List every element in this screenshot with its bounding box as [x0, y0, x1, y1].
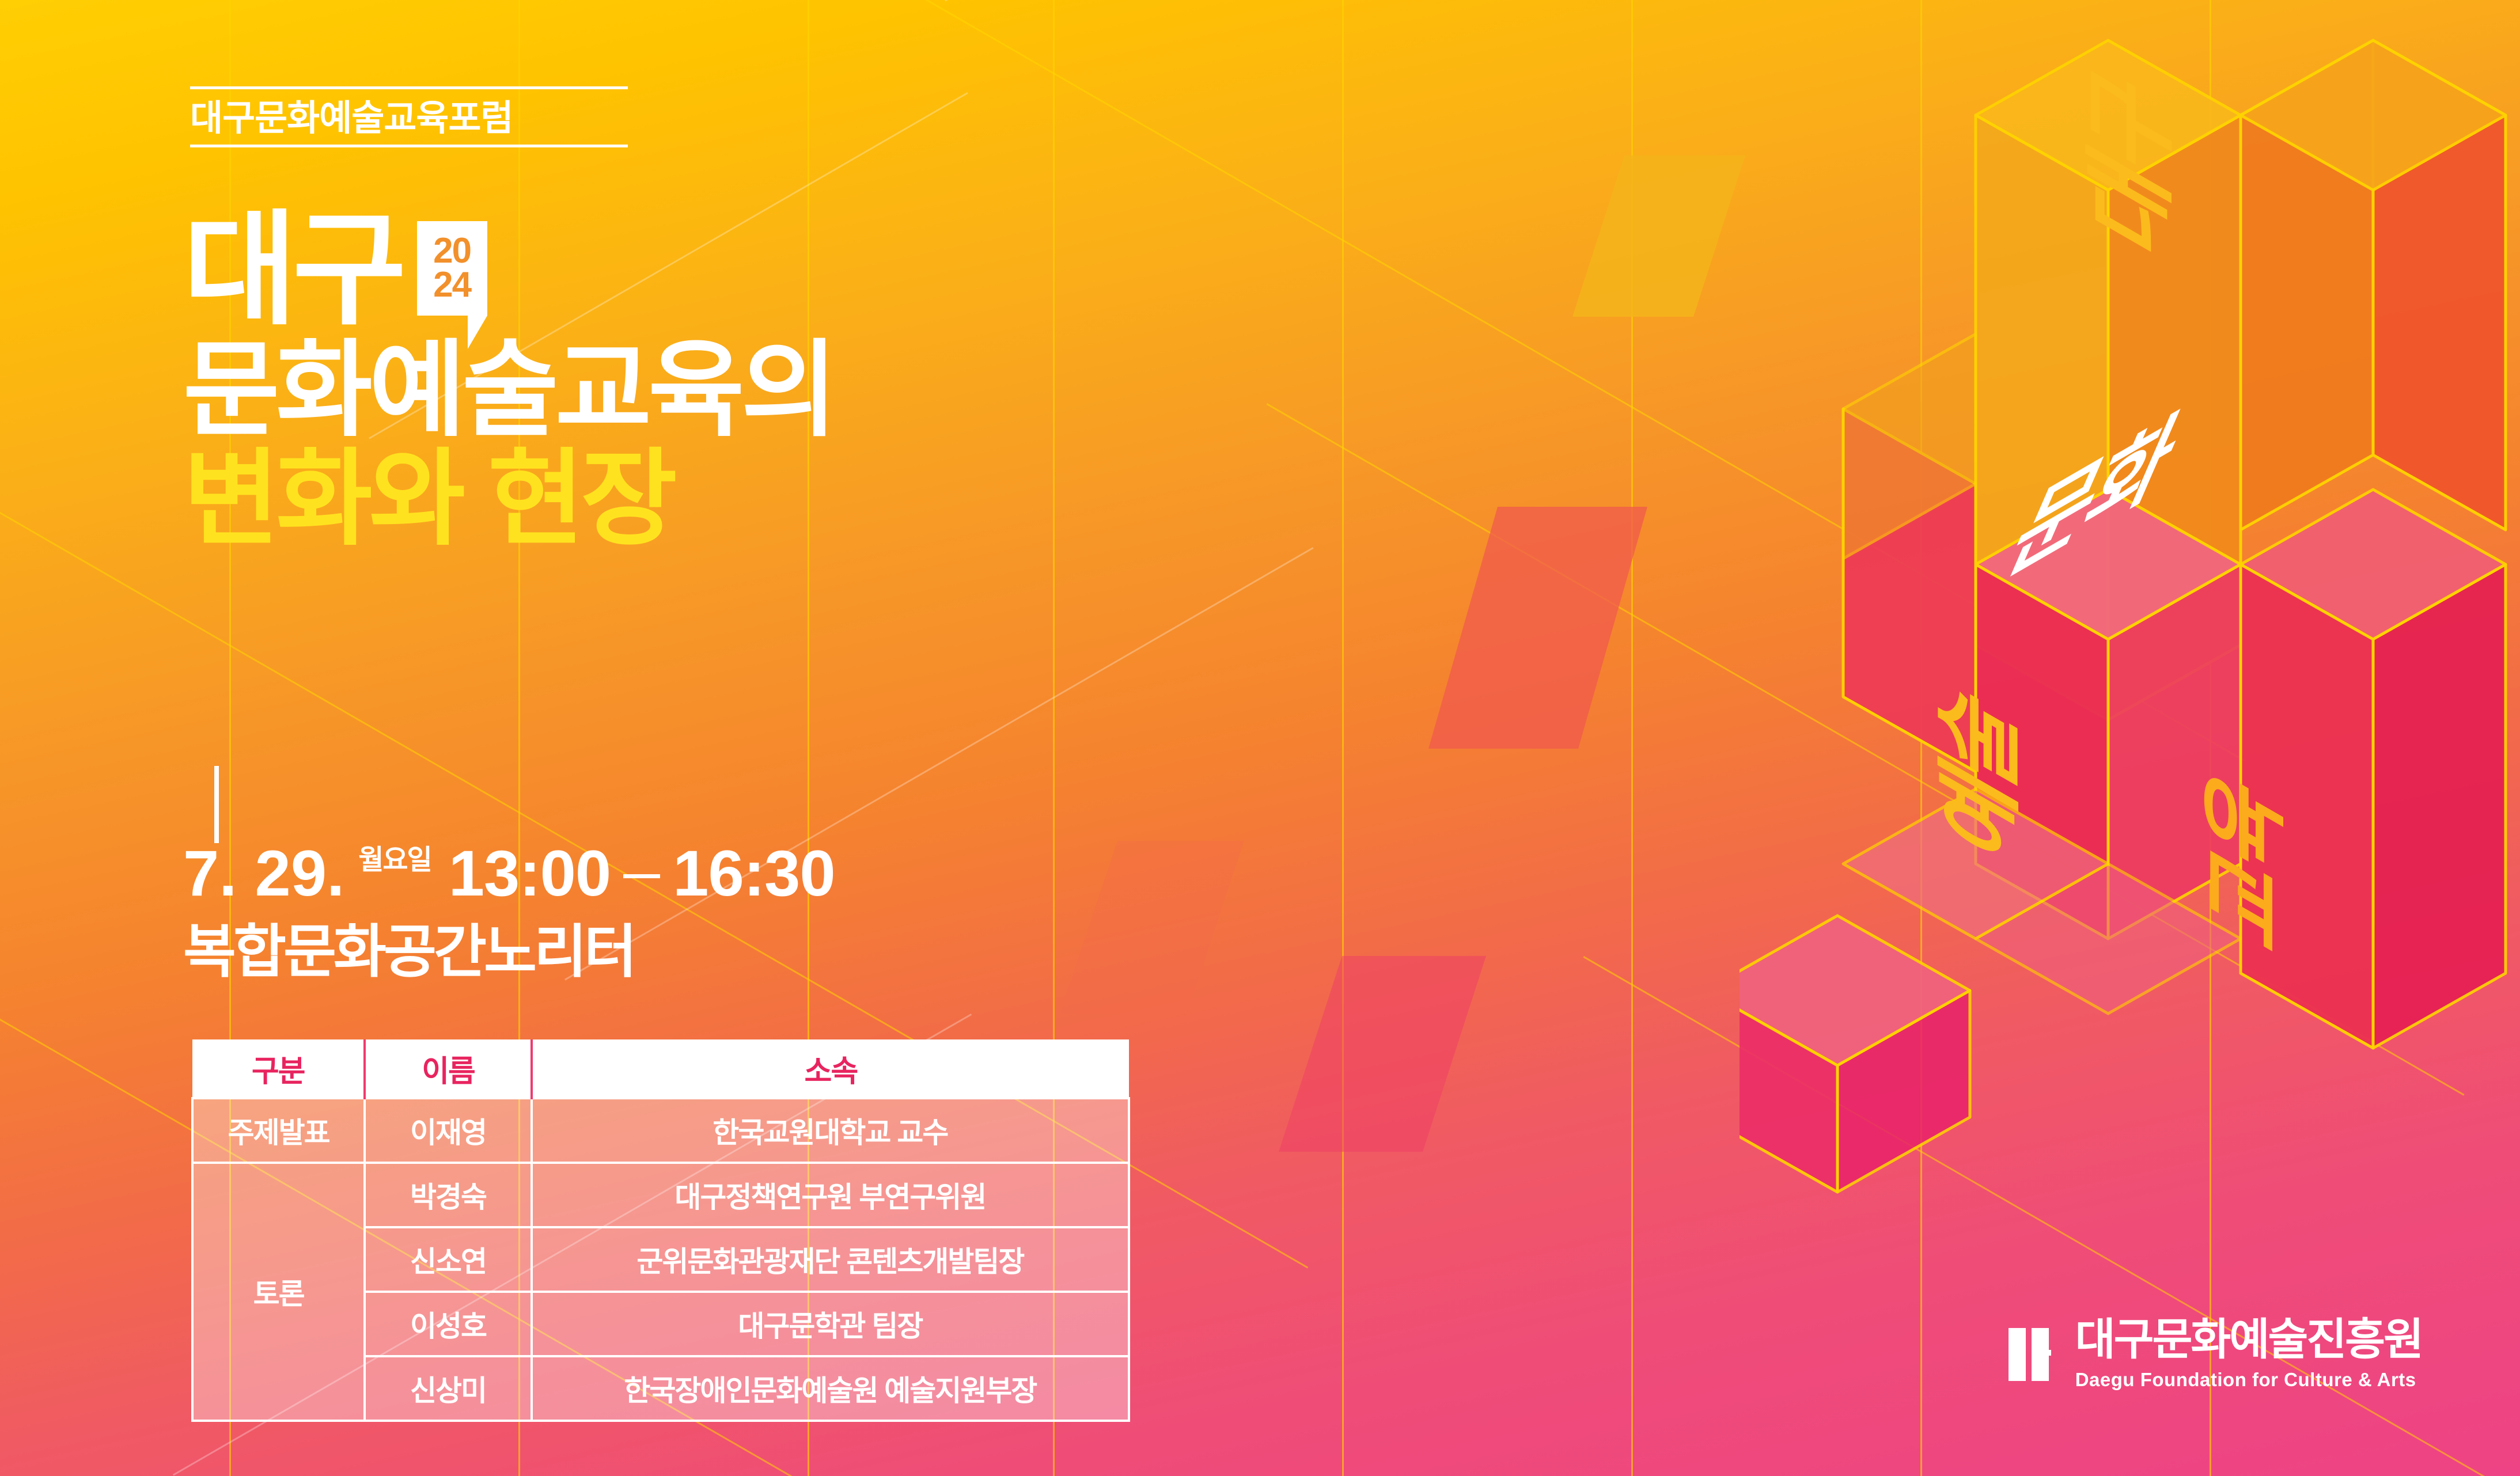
logo-name-kr: 대구문화예술진흥원: [2075, 1318, 2422, 1362]
kicker-rule-bottom: [190, 145, 628, 147]
year-top: 20: [433, 234, 471, 268]
event-datetime: 7. 29. 월요일 13:00 16:30: [183, 836, 1105, 910]
cell-affiliation: 한국장애인문화예술원 예술지원부장: [532, 1356, 1129, 1421]
kicker-block: 대구문화예술교육포럼: [190, 86, 628, 147]
kicker-label: 대구문화예술교육포럼: [190, 89, 628, 145]
event-venue: 복합문화공간노리터: [183, 923, 1105, 981]
grid-vline: [1342, 0, 1344, 1476]
cell-affiliation: 한국교원대학교 교수: [532, 1098, 1129, 1163]
cell-category: 토론: [192, 1163, 365, 1421]
isometric-block-cluster: 대구 예술 교육 문화: [1740, 0, 2520, 1204]
foundation-logomark-icon: [2005, 1322, 2060, 1387]
title-line-1-row: 대구 20 24: [183, 213, 1047, 327]
cell-affiliation: 군위문화관광재단 콘텐츠개발팀장: [532, 1227, 1129, 1292]
table-row: 주제발표 이재영 한국교원대학교 교수: [192, 1098, 1129, 1163]
year-bottom: 24: [433, 268, 471, 302]
logo-name-en: Daegu Foundation for Culture & Arts: [2075, 1369, 2422, 1391]
title-line-2: 문화예술교육의: [183, 342, 1047, 438]
cell-name: 신소연: [365, 1227, 531, 1292]
table-header-row: 구분 이름 소속: [192, 1039, 1129, 1098]
page-title: 대구 20 24 문화예술교육의 변화와 현장: [183, 213, 1047, 548]
event-date: 7. 29.: [183, 836, 344, 910]
table-header-name: 이름: [365, 1039, 531, 1098]
poster-canvas: 대구 예술 교육 문화 대구문화예술교육포럼 대구: [0, 0, 2520, 1476]
cell-name: 박경숙: [365, 1163, 531, 1227]
logo-text: 대구문화예술진흥원 Daegu Foundation for Culture &…: [2075, 1318, 2422, 1391]
table-row: 토론 박경숙 대구정책연구원 부연구위원: [192, 1163, 1129, 1227]
cell-name: 이재영: [365, 1098, 531, 1163]
section-divider: [214, 766, 219, 843]
content-column: 대구문화예술교육포럼 대구 20 24 문화예술교육의 변화와 현장 7. 29…: [0, 0, 1210, 1476]
title-line-3: 변화와 현장: [183, 451, 1047, 547]
cell-name: 이성호: [365, 1292, 531, 1356]
accent-parallelogram: [1428, 507, 1647, 749]
event-meta: 7. 29. 월요일 13:00 16:30 복합문화공간노리터: [183, 836, 1105, 981]
year-badge: 20 24: [417, 221, 487, 316]
cell-affiliation: 대구문학관 팀장: [532, 1292, 1129, 1356]
footer-logo: 대구문화예술진흥원 Daegu Foundation for Culture &…: [2005, 1318, 2422, 1391]
time-range-dash: [623, 874, 660, 878]
event-weekday: 월요일: [358, 837, 431, 877]
cell-affiliation: 대구정책연구원 부연구위원: [532, 1163, 1129, 1227]
accent-parallelogram: [1572, 155, 1745, 317]
cell-category: 주제발표: [192, 1098, 365, 1163]
accent-parallelogram: [1279, 956, 1486, 1152]
cell-name: 신상미: [365, 1356, 531, 1421]
program-table: 구분 이름 소속 주제발표 이재영 한국교원대학교 교수 토론 박경숙 대구정책…: [191, 1039, 1130, 1422]
event-time-start: 13:00: [449, 836, 611, 910]
table-header-category: 구분: [192, 1039, 365, 1098]
table-header-affiliation: 소속: [532, 1039, 1129, 1098]
title-line-1: 대구: [183, 213, 402, 327]
event-time-end: 16:30: [673, 836, 835, 910]
